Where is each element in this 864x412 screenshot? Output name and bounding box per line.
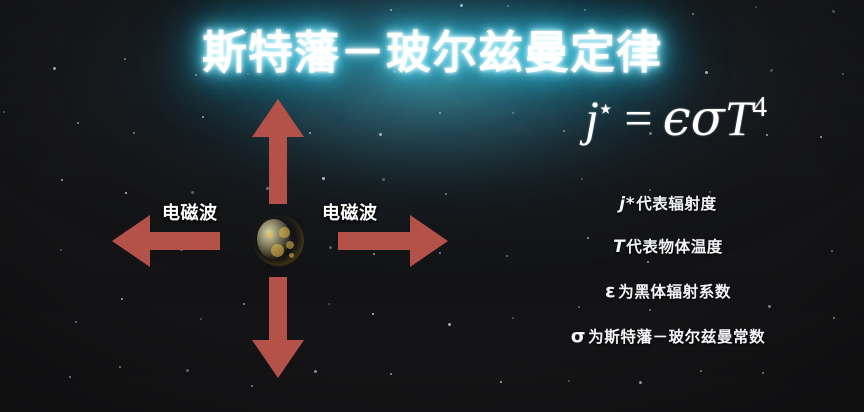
- legend-item-temperature: T代表物体温度: [500, 239, 836, 256]
- slide-canvas: 斯特藩－玻尔兹曼定律 j⋆=ϵσT4 j*代表辐射度 T代表物体温度 ε为黑体辐…: [0, 0, 864, 412]
- sun-crater: [289, 253, 294, 258]
- formula-operator: =: [614, 90, 662, 146]
- label-electromagnetic-wave-right: 电磁波: [322, 199, 378, 225]
- arrow-up-head: [252, 99, 304, 137]
- formula-temperature: T: [725, 90, 753, 146]
- page-title: 斯特藩－玻尔兹曼定律: [0, 16, 864, 81]
- sun-crater: [286, 241, 294, 249]
- legend-symbol-epsilon: ε: [605, 280, 616, 302]
- arrow-down-head: [252, 340, 304, 378]
- arrow-left-shaft: [148, 232, 220, 250]
- sun-sphere: [253, 215, 304, 266]
- legend-symbol-t: T: [613, 237, 625, 257]
- formula-display: j⋆=ϵσT4: [516, 92, 836, 145]
- legend-text-constant: 为斯特藩－玻尔兹曼常数: [588, 329, 765, 346]
- legend-item-emissivity: ε为黑体辐射系数: [500, 282, 836, 301]
- formula-sigma: σ: [691, 89, 725, 147]
- sun-crater: [279, 227, 290, 238]
- formula-star-superscript: ⋆: [597, 94, 615, 125]
- formula-exponent: 4: [753, 91, 768, 123]
- legend-text-radiance: 代表辐射度: [636, 196, 717, 213]
- arrow-left-head: [112, 215, 150, 267]
- legend-text-temperature: 代表物体温度: [626, 239, 723, 256]
- legend-item-constant: σ为斯特藩－玻尔兹曼常数: [500, 327, 836, 346]
- arrow-down-shaft: [269, 277, 287, 340]
- legend-item-radiance: j*代表辐射度: [500, 196, 836, 213]
- legend-list: j*代表辐射度 T代表物体温度 ε为黑体辐射系数 σ为斯特藩－玻尔兹曼常数: [500, 196, 836, 372]
- arrow-right-shaft: [338, 232, 410, 250]
- formula-epsilon: ϵ: [663, 89, 691, 147]
- legend-text-emissivity: 为黑体辐射系数: [618, 284, 731, 301]
- legend-symbol-sigma: σ: [571, 325, 586, 347]
- legend-symbol-j: j*: [619, 194, 635, 214]
- arrow-right-head: [410, 215, 448, 267]
- arrow-up-shaft: [269, 132, 287, 204]
- label-electromagnetic-wave-left: 电磁波: [162, 199, 218, 225]
- sun-crater: [271, 244, 284, 257]
- sun-crater: [267, 232, 273, 238]
